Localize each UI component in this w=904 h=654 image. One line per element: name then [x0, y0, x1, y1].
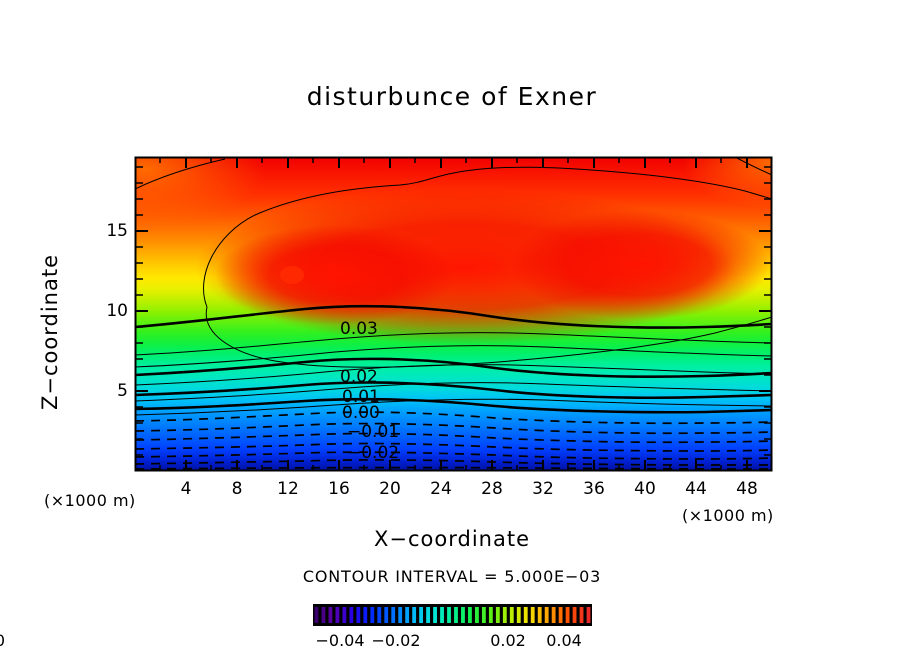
y-axis-label: Z−coordinate: [38, 222, 62, 442]
contour-field-svg: 0.03 0.02 0.01 0.00 −0.01 −0.02: [135, 157, 772, 471]
colorbar-tick-label: 0: [0, 631, 5, 650]
colorbar-band: [391, 607, 395, 623]
colorbar: [313, 604, 592, 626]
colorbar-band: [398, 607, 402, 623]
field-max-core-tertiary: [510, 210, 770, 320]
colorbar-band: [419, 607, 423, 623]
colorbar-band: [426, 607, 430, 623]
colorbar-tick-label: −0.02: [371, 631, 420, 650]
x-tick-label: 44: [685, 479, 707, 499]
colorbar-band: [405, 607, 409, 623]
colorbar-svg: [313, 604, 592, 626]
colorbar-band: [356, 607, 360, 623]
field-local-spot: [280, 266, 304, 284]
x-tick-label: 8: [232, 479, 243, 499]
colorbar-band: [503, 607, 507, 623]
colorbar-band: [377, 607, 381, 623]
x-axis-units-left: (×1000 m): [44, 491, 136, 510]
colorbar-band: [545, 607, 549, 623]
x-tick-label: 20: [379, 479, 401, 499]
x-tick-label: 28: [481, 479, 503, 499]
colorbar-band: [496, 607, 500, 623]
x-tick-label: 32: [532, 479, 554, 499]
colorbar-band: [440, 607, 444, 623]
colorbar-band: [468, 607, 472, 623]
colorbar-band: [433, 607, 437, 623]
x-tick-label: 40: [634, 479, 656, 499]
colorbar-tick-label: 0.02: [490, 631, 526, 650]
colorbar-band: [482, 607, 486, 623]
x-tick-label: 24: [430, 479, 452, 499]
colorbar-band: [454, 607, 458, 623]
contour-label--0.02: −0.02: [347, 443, 399, 463]
x-tick-label: 48: [736, 479, 758, 499]
x-axis-label: X−coordinate: [0, 527, 904, 551]
contour-label-0.03: 0.03: [340, 319, 378, 339]
colorbar-band: [559, 607, 563, 623]
colorbar-band: [573, 607, 577, 623]
colorbar-band: [524, 607, 528, 623]
colorbar-band: [531, 607, 535, 623]
x-tick-label: 16: [328, 479, 350, 499]
colorbar-band: [475, 607, 479, 623]
colorbar-band: [322, 607, 326, 623]
y-tick-label: 5: [100, 381, 128, 401]
colorbar-band: [566, 607, 570, 623]
colorbar-band: [580, 607, 584, 623]
x-tick-label: 36: [583, 479, 605, 499]
contour-label-0.02: 0.02: [340, 367, 378, 387]
contour-label-0.00: 0.00: [342, 403, 380, 423]
colorbar-band: [329, 607, 333, 623]
colorbar-band: [349, 607, 353, 623]
colorbar-band: [510, 607, 514, 623]
y-tick-label: 15: [100, 221, 128, 241]
colorbar-band: [552, 607, 556, 623]
colorbar-tick-label: 0.04: [546, 631, 582, 650]
colorbar-band: [517, 607, 521, 623]
colorbar-band: [538, 607, 542, 623]
colorbar-band: [412, 607, 416, 623]
colorbar-band: [587, 607, 591, 623]
colorbar-outline: [313, 604, 592, 626]
colorbar-band: [370, 607, 374, 623]
y-tick-label: 10: [100, 301, 128, 321]
x-tick-label: 4: [181, 479, 192, 499]
x-axis-units-right: (×1000 m): [682, 506, 774, 525]
contour-label--0.01: −0.01: [347, 422, 399, 442]
colorbar-band: [461, 607, 465, 623]
contour-plot-figure: disturbunce of Exner Z−coordinate X−coor…: [0, 0, 904, 654]
colorbar-band: [447, 607, 451, 623]
page-title: disturbunce of Exner: [0, 82, 904, 111]
colorbar-band: [342, 607, 346, 623]
contour-interval-annotation: CONTOUR INTERVAL = 5.000E−03: [0, 567, 904, 586]
colorbar-tick-label: −0.04: [315, 631, 364, 650]
colorbar-band: [489, 607, 493, 623]
colorbar-band: [335, 607, 339, 623]
contour-plot-canvas: 0.03 0.02 0.01 0.00 −0.01 −0.02: [135, 157, 772, 471]
colorbar-band: [363, 607, 367, 623]
x-tick-label: 12: [277, 479, 299, 499]
colorbar-band: [384, 607, 388, 623]
colorbar-band: [315, 607, 319, 623]
field-max-core-secondary: [215, 225, 455, 325]
